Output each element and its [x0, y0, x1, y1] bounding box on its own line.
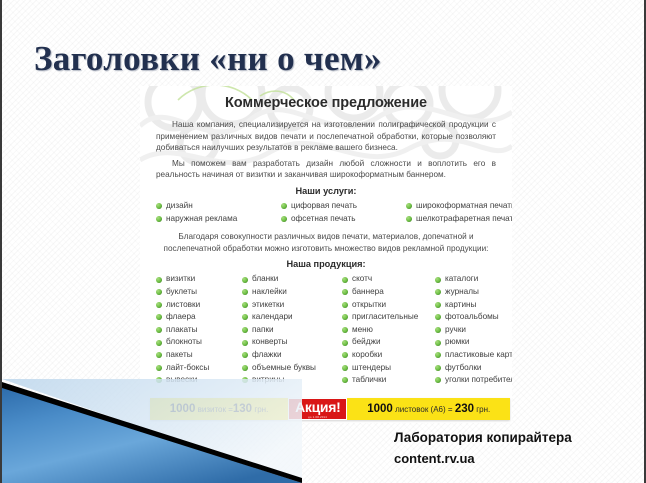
green-circle-bullet-icon: [435, 365, 441, 371]
list-item: папки: [242, 324, 342, 337]
green-circle-bullet-icon: [242, 277, 248, 283]
list-item: каталоги: [435, 273, 512, 286]
document-paragraph-1: Наша компания, специализируется на изгот…: [156, 119, 496, 154]
service-label: широкоформатная печать: [416, 200, 512, 213]
product-label: баннера: [352, 286, 384, 299]
green-circle-bullet-icon: [435, 314, 441, 320]
list-item: плакаты: [156, 324, 242, 337]
list-item: буклеты: [156, 286, 242, 299]
list-item: фотоальбомы: [435, 311, 512, 324]
caption-line-2: content.rv.ua: [394, 448, 572, 469]
list-item: лайт-боксы: [156, 362, 242, 375]
product-label: этикетки: [252, 299, 284, 312]
green-circle-bullet-icon: [242, 377, 248, 383]
list-item: коробки: [342, 349, 435, 362]
promo-left-quantity: 1000: [170, 403, 196, 415]
list-item: бланки: [242, 273, 342, 286]
product-label: плакаты: [166, 324, 198, 337]
green-circle-bullet-icon: [156, 216, 162, 222]
service-label: наружная реклама: [166, 213, 237, 226]
green-circle-bullet-icon: [242, 302, 248, 308]
promo-left-price: 130: [233, 403, 252, 415]
green-circle-bullet-icon: [342, 352, 348, 358]
presentation-slide: Заголовки «ни о чем»: [0, 0, 646, 483]
promo-offer-right: 1000 листовок (А6) = 230 грн.: [347, 398, 510, 421]
product-label: визитки: [166, 273, 195, 286]
list-item: календари: [242, 311, 342, 324]
slide-title: Заголовки «ни о чем»: [34, 39, 382, 79]
list-item: открытки: [342, 299, 435, 312]
green-circle-bullet-icon: [435, 277, 441, 283]
list-item: уголки потребителя: [435, 374, 512, 387]
list-item: скотч: [342, 273, 435, 286]
list-item: баннера: [342, 286, 435, 299]
green-circle-bullet-icon: [342, 277, 348, 283]
green-circle-bullet-icon: [156, 277, 162, 283]
product-label: вывески: [166, 374, 197, 387]
list-item: пакеты: [156, 349, 242, 362]
promo-badge-label: Акция!: [295, 400, 340, 415]
list-item: цифорвая печать: [281, 200, 406, 213]
green-circle-bullet-icon: [435, 302, 441, 308]
promo-right-item: листовок (А6): [395, 405, 446, 414]
green-circle-bullet-icon: [281, 203, 287, 209]
list-item: вывески: [156, 374, 242, 387]
promo-banner: 1000 визиток =130 грн. Акция! до 1.08.20…: [150, 398, 510, 420]
green-circle-bullet-icon: [242, 314, 248, 320]
source-caption: Лаборатория копирайтера content.rv.ua: [394, 427, 572, 469]
promo-offer-left: 1000 визиток =130 грн.: [150, 398, 288, 421]
product-label: бейджи: [352, 336, 381, 349]
list-item: меню: [342, 324, 435, 337]
list-item: объемные буквы: [242, 362, 342, 375]
product-label: штендеры: [352, 362, 391, 375]
service-label: офсетная печать: [291, 213, 356, 226]
list-item: дизайн: [156, 200, 281, 213]
product-label: буклеты: [166, 286, 197, 299]
green-circle-bullet-icon: [435, 340, 441, 346]
caption-line-1: Лаборатория копирайтера: [394, 427, 572, 448]
document-content: Коммерческое предложение Наша компания, …: [140, 86, 512, 387]
product-label: коробки: [352, 349, 382, 362]
list-item: пригласительные: [342, 311, 435, 324]
list-item: блокноты: [156, 336, 242, 349]
promo-right-quantity: 1000: [367, 403, 393, 415]
product-label: уголки потребителя: [445, 374, 512, 387]
green-circle-bullet-icon: [342, 377, 348, 383]
list-item: конверты: [242, 336, 342, 349]
list-item: визитки: [156, 273, 242, 286]
list-item: пластиковые карты: [435, 349, 512, 362]
services-list: дизайн цифорвая печать широкоформатная п…: [156, 200, 496, 225]
green-circle-bullet-icon: [435, 327, 441, 333]
promo-left-item: визиток: [198, 405, 226, 414]
list-item: наклейки: [242, 286, 342, 299]
green-circle-bullet-icon: [156, 203, 162, 209]
green-circle-bullet-icon: [342, 314, 348, 320]
list-item: шелкотрафаретная печать: [406, 213, 512, 226]
service-label: дизайн: [166, 200, 193, 213]
product-label: бланки: [252, 273, 278, 286]
product-label: фотоальбомы: [445, 311, 499, 324]
green-circle-bullet-icon: [435, 377, 441, 383]
product-label: конверты: [252, 336, 288, 349]
product-label: пакеты: [166, 349, 193, 362]
green-circle-bullet-icon: [342, 327, 348, 333]
list-item: флажки: [242, 349, 342, 362]
product-label: листовки: [166, 299, 200, 312]
services-heading: Наши услуги:: [156, 186, 496, 196]
document-paragraph-2: Мы поможем вам разработать дизайн любой …: [156, 158, 496, 181]
green-circle-bullet-icon: [406, 203, 412, 209]
product-label: пластиковые карты: [445, 349, 512, 362]
product-label: скотч: [352, 273, 372, 286]
commercial-offer-document: Коммерческое предложение Наша компания, …: [140, 86, 512, 423]
list-item: картины: [435, 299, 512, 312]
product-label: флажки: [252, 349, 282, 362]
product-label: ручки: [445, 324, 466, 337]
product-label: каталоги: [445, 273, 478, 286]
product-label: витрины: [252, 374, 284, 387]
product-label: открытки: [352, 299, 386, 312]
green-circle-bullet-icon: [342, 289, 348, 295]
product-label: пригласительные: [352, 311, 418, 324]
list-item: витрины: [242, 374, 342, 387]
green-circle-bullet-icon: [242, 340, 248, 346]
green-circle-bullet-icon: [156, 340, 162, 346]
document-heading: Коммерческое предложение: [156, 95, 496, 111]
product-label: футболки: [445, 362, 481, 375]
promo-right-price: 230: [455, 403, 474, 415]
green-circle-bullet-icon: [156, 302, 162, 308]
list-item: журналы: [435, 286, 512, 299]
green-circle-bullet-icon: [342, 340, 348, 346]
product-label: меню: [352, 324, 373, 337]
green-circle-bullet-icon: [242, 365, 248, 371]
product-label: лайт-боксы: [166, 362, 209, 375]
document-middle-paragraph: Благодаря совокупности различных видов п…: [156, 231, 496, 254]
product-label: календари: [252, 311, 293, 324]
product-label: картины: [445, 299, 476, 312]
product-label: журналы: [445, 286, 479, 299]
green-circle-bullet-icon: [435, 352, 441, 358]
product-label: блокноты: [166, 336, 202, 349]
list-item: таблички: [342, 374, 435, 387]
products-heading: Наша продукция:: [156, 259, 496, 269]
list-item: флаера: [156, 311, 242, 324]
products-list: визитки бланки скотч каталоги буклеты на…: [156, 273, 496, 386]
green-circle-bullet-icon: [281, 216, 287, 222]
green-circle-bullet-icon: [406, 216, 412, 222]
green-circle-bullet-icon: [242, 327, 248, 333]
green-circle-bullet-icon: [435, 289, 441, 295]
green-circle-bullet-icon: [342, 365, 348, 371]
green-circle-bullet-icon: [156, 377, 162, 383]
product-label: флаера: [166, 311, 196, 324]
list-item: офсетная печать: [281, 213, 406, 226]
list-item: штендеры: [342, 362, 435, 375]
green-circle-bullet-icon: [156, 327, 162, 333]
list-item: ручки: [435, 324, 512, 337]
service-label: цифорвая печать: [291, 200, 357, 213]
green-circle-bullet-icon: [342, 302, 348, 308]
product-label: таблички: [352, 374, 386, 387]
product-label: рюмки: [445, 336, 469, 349]
promo-right-currency: грн.: [476, 405, 490, 414]
list-item: широкоформатная печать: [406, 200, 512, 213]
green-circle-bullet-icon: [156, 314, 162, 320]
product-label: папки: [252, 324, 274, 337]
promo-badge-sublabel: до 1.08.2014: [308, 415, 327, 419]
green-circle-bullet-icon: [156, 352, 162, 358]
product-label: наклейки: [252, 286, 287, 299]
green-circle-bullet-icon: [242, 352, 248, 358]
green-circle-bullet-icon: [156, 365, 162, 371]
list-item: бейджи: [342, 336, 435, 349]
green-circle-bullet-icon: [156, 289, 162, 295]
product-label: объемные буквы: [252, 362, 316, 375]
list-item: листовки: [156, 299, 242, 312]
green-circle-bullet-icon: [242, 289, 248, 295]
promo-left-currency: грн.: [254, 405, 268, 414]
list-item: рюмки: [435, 336, 512, 349]
promo-action-badge: Акция! до 1.08.2014: [288, 398, 347, 420]
list-item: наружная реклама: [156, 213, 281, 226]
list-item: футболки: [435, 362, 512, 375]
service-label: шелкотрафаретная печать: [416, 213, 512, 226]
list-item: этикетки: [242, 299, 342, 312]
